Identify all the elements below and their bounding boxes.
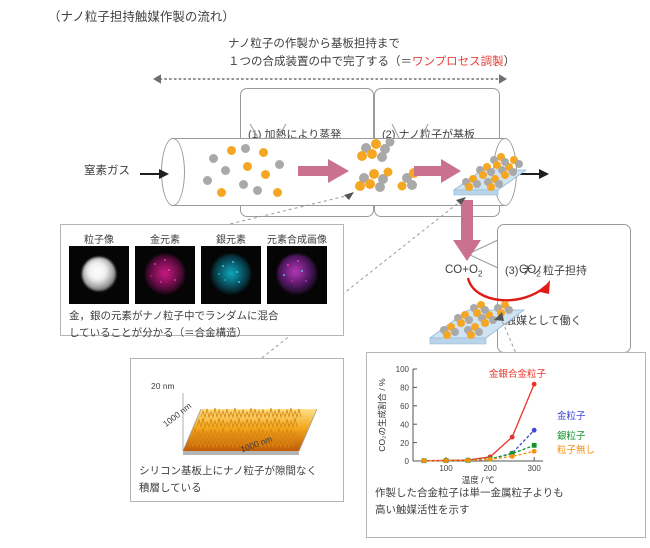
chart-caption-2: 高い触媒活性を示す (375, 502, 564, 519)
composite-element-map (267, 246, 327, 304)
svg-text:300: 300 (528, 464, 542, 473)
svg-text:温度 / ℃: 温度 / ℃ (462, 475, 495, 485)
mapping-header-2: 銀元素 (201, 231, 261, 246)
svg-text:100: 100 (439, 464, 453, 473)
co2-yield-chart: 020406080100100200300温度 / ℃CO₂の生成割合 / %金… (371, 357, 641, 485)
afm-panel: 20 nm 1000 nm 1000 nm シリコン基板上にナノ粒子が隙間なく … (130, 358, 344, 502)
mapping-header-0: 粒子像 (69, 231, 129, 246)
mapping-item: 銀元素 (201, 231, 261, 304)
nanoparticle-clusters (352, 138, 418, 200)
header-line-1: ナノ粒子の作製から基板担持まで (228, 36, 400, 53)
element-mapping-panel: 粒子像 金元素 銀元素 元素合成画像 (60, 224, 344, 336)
mapping-item: 粒子像 (69, 231, 129, 304)
svg-text:CO₂の生成割合 / %: CO₂の生成割合 / % (377, 378, 387, 452)
svg-text:0: 0 (405, 457, 410, 466)
right-arrow-icon (140, 168, 170, 180)
double-headed-dotted-arrow-icon (150, 73, 510, 85)
header-line-2-post: ） (504, 56, 516, 68)
mapping-header-1: 金元素 (135, 231, 195, 246)
header-line-2-highlight: ワンプロセス調製 (412, 56, 504, 68)
page-title: （ナノ粒子担持触媒作製の流れ） (48, 8, 235, 26)
gold-element-map (135, 246, 195, 304)
header-line-2-pre: １つの合成装置の中で完了する（＝ (228, 56, 412, 68)
mapping-caption-2: していることが分かる（＝合金構造） (69, 325, 335, 342)
mapping-item: 元素合成画像 (267, 231, 327, 304)
chart-legend-1: 金粒子 (557, 410, 586, 422)
header-line-2: １つの合成装置の中で完了する（＝ワンプロセス調製） (228, 54, 515, 71)
thick-right-arrow-icon (298, 158, 350, 184)
mapping-item: 金元素 (135, 231, 195, 304)
afm-caption-1: シリコン基板上にナノ粒子が隙間なく (139, 463, 317, 480)
nitrogen-gas-label: 窒素ガス (84, 163, 130, 180)
particle-image (69, 246, 129, 304)
afm-caption-2: 積層している (139, 480, 317, 497)
afm-z-label: 20 nm (151, 381, 175, 391)
chart-legend-2: 銀粒子 (557, 430, 586, 442)
chart-legend-0: 金銀合金粒子 (489, 368, 547, 380)
svg-text:200: 200 (483, 464, 497, 473)
svg-text:20: 20 (400, 439, 409, 448)
svg-text:80: 80 (400, 384, 409, 393)
mapping-header-3: 元素合成画像 (267, 231, 327, 246)
silver-element-map (201, 246, 261, 304)
chart-caption-1: 作製した合金粒子は単一金属粒子よりも (375, 485, 564, 502)
svg-text:60: 60 (400, 402, 409, 411)
svg-text:40: 40 (400, 420, 409, 429)
svg-text:100: 100 (396, 365, 410, 374)
catalytic-activity-chart-panel: 020406080100100200300温度 / ℃CO₂の生成割合 / %金… (366, 352, 646, 538)
chart-legend-3: 粒子無し (557, 444, 595, 456)
mapping-caption-1: 金，銀の元素がナノ粒子中でランダムに混合 (69, 308, 335, 325)
